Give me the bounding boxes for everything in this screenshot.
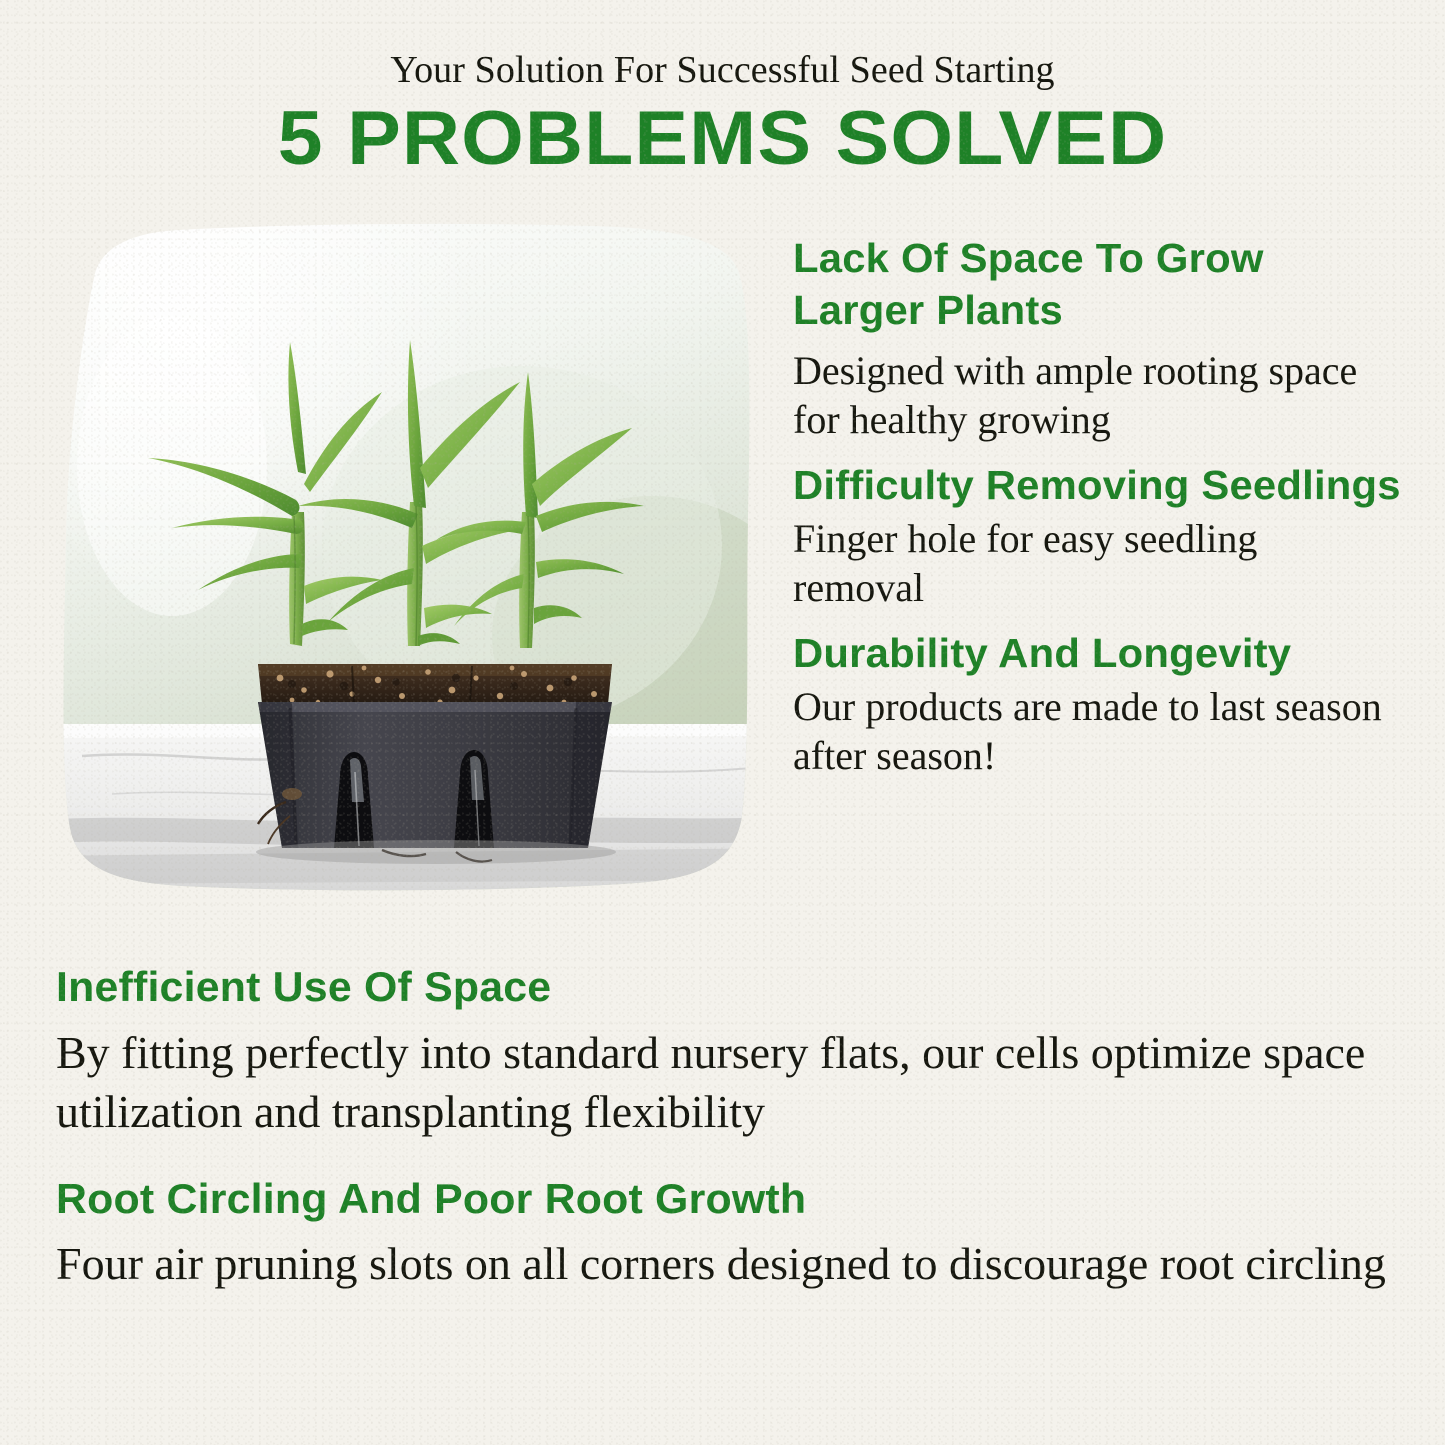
problem-body: Four air pruning slots on all corners de… — [56, 1235, 1386, 1294]
problem-heading: Lack Of Space To Grow Larger Plants — [793, 232, 1405, 337]
problem-item: Difficulty Removing Seedlings Finger hol… — [793, 459, 1393, 613]
problem-item: Root Circling And Poor Root Growth Four … — [56, 1172, 1386, 1295]
problem-body: Designed with ample rooting space for he… — [793, 347, 1393, 445]
product-photo — [52, 216, 762, 906]
problem-item: Lack Of Space To Grow Larger Plants Desi… — [793, 232, 1393, 445]
problem-body: By fitting perfectly into standard nurse… — [56, 1024, 1386, 1142]
problem-body: Our products are made to last season aft… — [793, 683, 1393, 781]
problem-list-bottom: Inefficient Use Of Space By fitting perf… — [56, 960, 1386, 1316]
problem-heading: Root Circling And Poor Root Growth — [56, 1172, 1413, 1226]
problem-list-right: Lack Of Space To Grow Larger Plants Desi… — [793, 232, 1393, 787]
infographic-page: Your Solution For Successful Seed Starti… — [0, 0, 1445, 1445]
problem-heading: Durability And Longevity — [793, 627, 1405, 679]
problem-heading: Difficulty Removing Seedlings — [793, 459, 1405, 511]
problem-item: Inefficient Use Of Space By fitting perf… — [56, 960, 1386, 1142]
page-title: 5 PROBLEMS SOLVED — [0, 95, 1445, 182]
problem-heading: Inefficient Use Of Space — [56, 960, 1413, 1014]
problem-item: Durability And Longevity Our products ar… — [793, 627, 1393, 781]
problem-body: Finger hole for easy seedling removal — [793, 515, 1393, 613]
page-subtitle: Your Solution For Successful Seed Starti… — [0, 48, 1445, 92]
